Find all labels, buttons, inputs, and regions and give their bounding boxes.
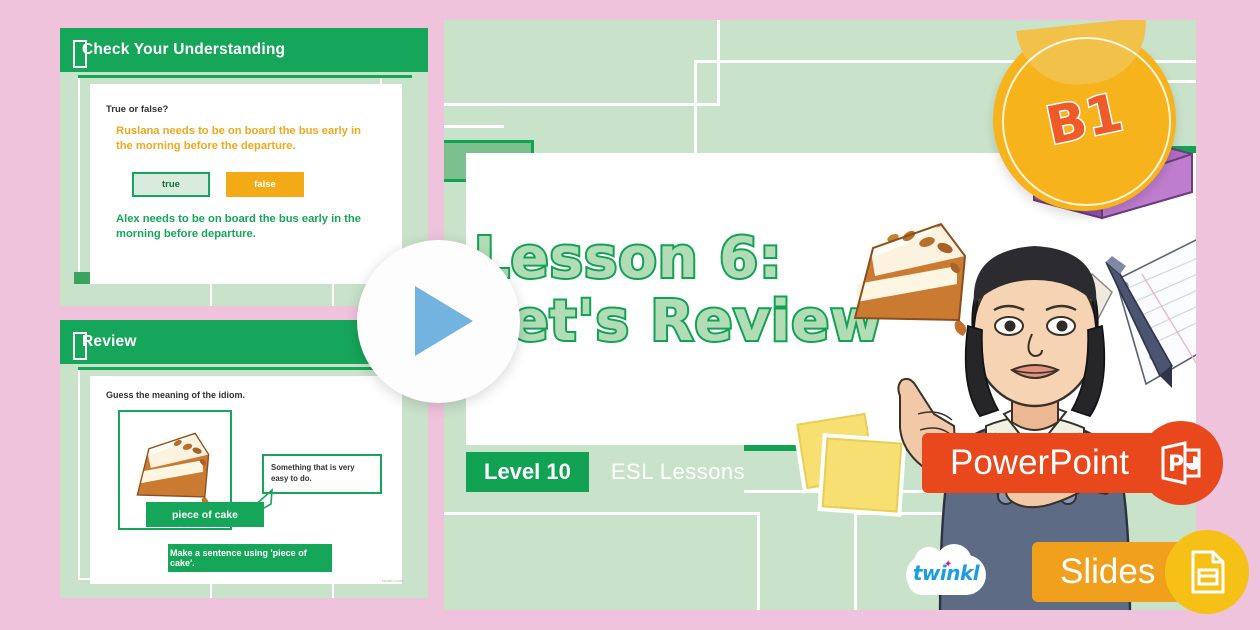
bg-white-rect [444, 20, 720, 106]
true-false-prompt: True or false? [106, 104, 168, 115]
slide-header-bar: Check Your Understanding [60, 28, 428, 72]
bg-white-rect [444, 512, 760, 610]
slide-header-rule [78, 75, 412, 78]
preview-slide-check-your-understanding[interactable]: Check Your Understanding True or false? … [60, 28, 428, 306]
idiom-prompt: Guess the meaning of the idiom. [106, 390, 245, 400]
play-button[interactable] [357, 240, 520, 403]
svg-text:P: P [1168, 452, 1184, 477]
format-badge-slides[interactable]: Slides [1032, 530, 1249, 614]
idiom-task: Make a sentence using 'piece of cake'. [168, 544, 332, 572]
answer-option-false[interactable]: false [226, 172, 304, 197]
slide-header-rule [78, 367, 412, 370]
slide-header-tick [73, 40, 87, 68]
powerpoint-icon: P [1139, 421, 1223, 505]
slide-header-tick [73, 332, 87, 360]
badge-label: B1 [976, 20, 1193, 228]
sticky-note-illustration [822, 437, 903, 512]
google-slides-icon [1165, 530, 1249, 614]
idiom-definition: Something that is very easy to do. [262, 454, 382, 494]
cover-title-line-1: Lesson 6: [474, 226, 783, 291]
slide-content-card: True or false? Ruslana needs to be on bo… [90, 84, 402, 284]
format-badge-powerpoint[interactable]: PowerPoint P [922, 421, 1223, 505]
answer-option-true[interactable]: true [132, 172, 210, 197]
true-false-statement: Ruslana needs to be on board the bus ear… [116, 124, 366, 155]
slide-content-card: Guess the meaning of the idiom. piece of… [90, 376, 402, 584]
callout-pointer-icon [230, 488, 274, 530]
bg-white-line [444, 125, 504, 128]
powerpoint-label: PowerPoint [922, 433, 1157, 493]
level-badge: Level 10 [466, 452, 589, 492]
main-cover-panel[interactable]: ? Lesson 6: Let's Review [444, 20, 1196, 610]
twinkl-logo: twinkl ✦ [906, 547, 986, 603]
slide-watermark: twinkl.com [382, 578, 404, 583]
play-icon [415, 286, 473, 356]
true-false-answer: Alex needs to be on board the bus early … [116, 212, 366, 243]
level-badge-b1: B1 [993, 28, 1176, 211]
slide-title-text: Check Your Understanding [82, 41, 285, 59]
screenshot-stage: Check Your Understanding True or false? … [0, 0, 1260, 630]
slide-title-text: Review [82, 333, 137, 351]
slides-label: Slides [1032, 542, 1183, 602]
star-icon: ✦ [944, 559, 952, 570]
level-subtitle: ESL Lessons [589, 452, 767, 492]
level-strip: Level 10 ESL Lessons [466, 452, 767, 492]
